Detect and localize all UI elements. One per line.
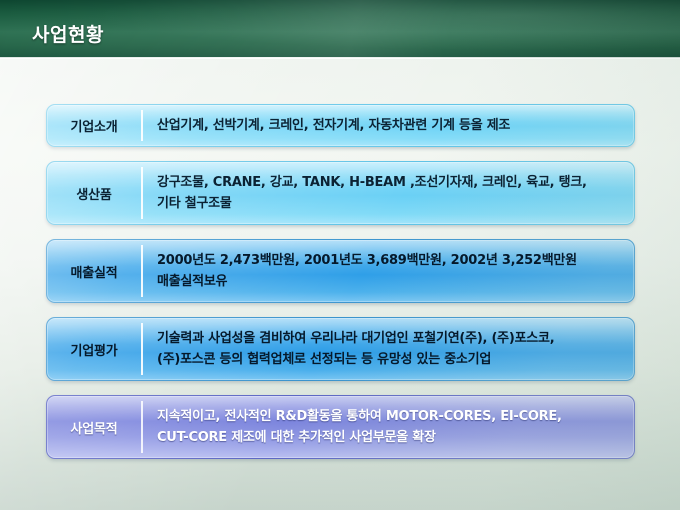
page-title: 사업현황 xyxy=(32,20,104,47)
row-text-line: 2000년도 2,473백만원, 2001년도 3,689백만원, 2002년 … xyxy=(157,250,622,271)
table-row: 기업평가기술력과 사업성올 겸비하여 우리나라 대기업인 포철기연(주), (주… xyxy=(46,317,635,381)
row-label: 사업목적 xyxy=(47,396,141,458)
table-row: 생산품강구조물, CRANE, 강교, TANK, H-BEAM ,조선기자재,… xyxy=(46,161,635,225)
presentation-slide: 사업현황 기업소개산업기계, 선박기계, 크레인, 전자기계, 자동차관련 기계… xyxy=(0,0,680,510)
row-label: 기업소개 xyxy=(47,105,141,146)
row-text-line: (주)포스콘 등의 협력업체로 선정되는 등 유망성 있는 중소기업 xyxy=(157,349,622,370)
row-body: 강구조물, CRANE, 강교, TANK, H-BEAM ,조선기자재, 크레… xyxy=(143,162,634,224)
table-row: 매출실적2000년도 2,473백만원, 2001년도 3,689백만원, 20… xyxy=(46,239,635,303)
row-body: 지속적이고, 전사적인 R&D활동올 통하여 MOTOR-CORES, EI-C… xyxy=(143,396,634,458)
row-label: 기업평가 xyxy=(47,318,141,380)
row-text-line: CUT-CORE 제조에 대한 추가적인 사업부문올 확장 xyxy=(157,427,622,448)
row-body: 산업기계, 선박기계, 크레인, 전자기계, 자동차관련 기계 등올 제조 xyxy=(143,105,634,146)
row-text-line: 지속적이고, 전사적인 R&D활동올 통하여 MOTOR-CORES, EI-C… xyxy=(157,406,622,427)
header-underline xyxy=(0,57,680,59)
row-label: 생산품 xyxy=(47,162,141,224)
table-row: 기업소개산업기계, 선박기계, 크레인, 전자기계, 자동차관련 기계 등올 제… xyxy=(46,104,635,147)
row-body: 2000년도 2,473백만원, 2001년도 3,689백만원, 2002년 … xyxy=(143,240,634,302)
row-label: 매출실적 xyxy=(47,240,141,302)
row-text-line: 매출실적보유 xyxy=(157,271,622,292)
row-body: 기술력과 사업성올 겸비하여 우리나라 대기업인 포철기연(주), (주)포스코… xyxy=(143,318,634,380)
row-text-line: 기타 철구조물 xyxy=(157,193,622,214)
row-text-line: 강구조물, CRANE, 강교, TANK, H-BEAM ,조선기자재, 크레… xyxy=(157,172,622,193)
row-text-line: 산업기계, 선박기계, 크레인, 전자기계, 자동차관련 기계 등올 제조 xyxy=(157,115,622,136)
table-row: 사업목적지속적이고, 전사적인 R&D활동올 통하여 MOTOR-CORES, … xyxy=(46,395,635,459)
row-text-line: 기술력과 사업성올 겸비하여 우리나라 대기업인 포철기연(주), (주)포스코… xyxy=(157,328,622,349)
info-table: 기업소개산업기계, 선박기계, 크레인, 전자기계, 자동차관련 기계 등올 제… xyxy=(46,104,633,459)
